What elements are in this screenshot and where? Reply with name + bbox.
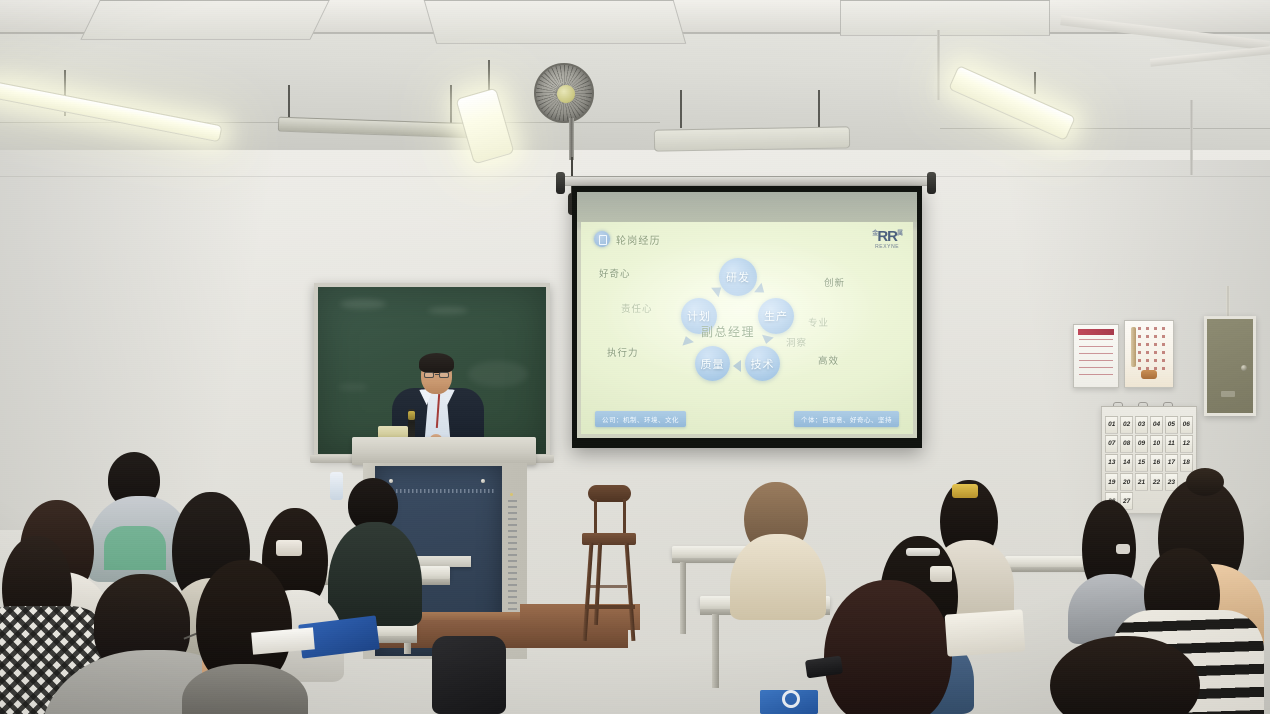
pocket-cell-13[interactable]: 13 xyxy=(1105,454,1118,472)
stool-rung-mid xyxy=(589,585,627,588)
logo-mark: RR xyxy=(877,228,897,245)
poster-scroll-graphic xyxy=(1131,327,1136,367)
pocket-cell-empty xyxy=(1135,492,1148,510)
panel-label-plate xyxy=(1221,391,1235,397)
stool-back-leg-left xyxy=(594,499,597,537)
light-rod-center-b xyxy=(450,85,452,125)
lectern-side-grille xyxy=(508,500,517,620)
wooden-bar-stool[interactable] xyxy=(578,485,638,645)
wall-seam-right xyxy=(940,128,1270,129)
word-execution: 执行力 xyxy=(607,345,639,359)
ceiling-duct-left xyxy=(80,0,330,40)
stool-back-leg-right xyxy=(623,499,626,537)
student-body xyxy=(328,522,422,626)
arrow-rnd-to-production xyxy=(754,283,768,297)
poster-text-lines xyxy=(1079,339,1113,381)
pocket-cell-12[interactable]: 12 xyxy=(1180,435,1193,453)
desk-water-bottle xyxy=(330,472,343,500)
word-curiosity: 好奇心 xyxy=(599,266,631,280)
pocket-cell-02[interactable]: 02 xyxy=(1120,416,1133,434)
hair-scrunchie xyxy=(276,540,302,556)
logo-mark-right: 属 xyxy=(897,231,902,237)
poster-column-2 xyxy=(1154,327,1157,371)
word-professional: 专业 xyxy=(808,315,829,329)
student-body xyxy=(730,534,826,620)
desk-backpack xyxy=(432,636,506,714)
pocket-cell-11[interactable]: 11 xyxy=(1165,435,1178,453)
pocket-cell-14[interactable]: 14 xyxy=(1120,454,1133,472)
stool-leg-bl xyxy=(594,543,602,625)
desk-logo-sticker xyxy=(782,690,800,708)
ceiling-duct-center xyxy=(424,0,687,44)
stool-rung-lower xyxy=(585,605,635,609)
poster-column-3 xyxy=(1146,327,1149,371)
slide-center-label: 副总经理 xyxy=(701,323,755,340)
light-rod-screen-b xyxy=(818,90,820,130)
bubble-rnd: 研发 xyxy=(719,258,757,296)
pocket-cell-16[interactable]: 16 xyxy=(1150,454,1163,472)
arrow-quality-to-planning xyxy=(680,334,694,345)
lectern-screw-right xyxy=(481,479,485,483)
bubble-technology: 技术 xyxy=(745,346,780,381)
bubble-production: 生产 xyxy=(758,298,794,334)
pocket-cell-21[interactable]: 21 xyxy=(1135,473,1148,491)
ceiling-pipe-right xyxy=(1190,100,1193,175)
pocket-cell-22[interactable]: 22 xyxy=(1150,473,1163,491)
pocket-cell-03[interactable]: 03 xyxy=(1135,416,1148,434)
classroom-scene: 轮岗经历 金RR属 REXYNE 研发 生产 技术 质量 计划 副总经理 xyxy=(0,0,1270,714)
desk-leg-row3-left xyxy=(680,562,686,634)
pocket-cell-09[interactable]: 09 xyxy=(1135,435,1148,453)
student-hood xyxy=(104,526,166,570)
tag-individual: 个体：自驱意、好奇心、坚持 xyxy=(794,411,899,427)
presentation-slide: 轮岗经历 金RR属 REXYNE 研发 生产 技术 质量 计划 副总经理 xyxy=(581,222,913,434)
pocket-cell-04[interactable]: 04 xyxy=(1150,416,1163,434)
arrow-production-to-technology xyxy=(760,335,773,345)
desk-tote-bag xyxy=(945,609,1026,656)
pocket-cell-07[interactable]: 07 xyxy=(1105,435,1118,453)
word-innovation: 创新 xyxy=(824,275,845,289)
student-hair xyxy=(824,580,952,714)
panel-conduit xyxy=(1226,286,1230,318)
pocket-cell-01[interactable]: 01 xyxy=(1105,416,1118,434)
classroom-rules-poster xyxy=(1073,324,1119,388)
hair-clip-silver xyxy=(906,548,940,556)
lectern-top xyxy=(352,437,536,465)
company-logo: 金RR属 REXYNE xyxy=(872,229,902,250)
logo-wordmark: REXYNE xyxy=(872,245,902,250)
hair-clip-gold xyxy=(952,484,978,498)
presenter-glasses-left xyxy=(424,372,434,378)
projection-screen-housing[interactable] xyxy=(560,176,932,186)
word-efficient: 高效 xyxy=(818,353,839,367)
panel-latch-knob[interactable] xyxy=(1241,365,1247,371)
pocket-cell-18[interactable]: 18 xyxy=(1180,454,1193,472)
poster-header-band xyxy=(1078,329,1114,335)
screen-surface: 轮岗经历 金RR属 REXYNE 研发 生产 技术 质量 计划 副总经理 xyxy=(577,192,917,438)
light-rod-right xyxy=(1034,72,1036,94)
arrow-technology-to-quality xyxy=(733,360,741,372)
presenter-hair xyxy=(419,353,454,373)
fan-hub xyxy=(557,85,575,103)
ceiling-light-screen[interactable] xyxy=(654,126,850,151)
student-hair xyxy=(196,560,292,680)
tag-company: 公司：机制、环境、文化 xyxy=(595,411,686,427)
light-rod-screen xyxy=(680,90,682,128)
building-icon xyxy=(594,231,610,247)
slide-header-title: 轮岗经历 xyxy=(616,232,661,247)
screen-bracket-right xyxy=(927,172,936,194)
lectern-screw-left xyxy=(389,479,393,483)
pocket-cell-05[interactable]: 05 xyxy=(1165,416,1178,434)
word-insight: 洞察 xyxy=(786,335,807,349)
presenter-glasses-right xyxy=(439,372,449,378)
hair-bun xyxy=(1186,468,1224,496)
lectern-indicator-led xyxy=(510,493,513,496)
pocket-cell-08[interactable]: 08 xyxy=(1120,435,1133,453)
poster-column-1 xyxy=(1162,327,1165,371)
pocket-cell-19[interactable]: 19 xyxy=(1105,473,1118,491)
bubble-quality: 质量 xyxy=(695,346,730,381)
pocket-cell-10[interactable]: 10 xyxy=(1150,435,1163,453)
ceiling-duct-right xyxy=(840,0,1050,36)
lectern-vent-strip xyxy=(384,489,494,493)
fan-cage-icon xyxy=(534,63,594,123)
wall-shadow-left xyxy=(0,130,330,530)
stool-leg-fl xyxy=(583,543,594,641)
desk-leg-row2-center xyxy=(712,614,719,688)
ceiling-pipe-center xyxy=(937,30,940,100)
projection-screen: 轮岗经历 金RR属 REXYNE 研发 生产 技术 质量 计划 副总经理 xyxy=(572,186,922,448)
pocket-cell-17[interactable]: 17 xyxy=(1165,454,1178,472)
pocket-cell-20[interactable]: 20 xyxy=(1120,473,1133,491)
calligraphy-poster xyxy=(1124,320,1174,388)
electrical-access-panel[interactable] xyxy=(1204,316,1256,416)
fan-pole xyxy=(569,118,574,160)
pocket-cell-15[interactable]: 15 xyxy=(1135,454,1148,472)
stool-leg-fr xyxy=(625,543,636,641)
word-responsibility: 责任心 xyxy=(621,301,653,315)
screen-bracket-left xyxy=(556,172,565,194)
screen-blank-band xyxy=(577,192,917,222)
pocket-cell-empty xyxy=(1150,492,1163,510)
poster-seal xyxy=(1141,370,1157,379)
hair-tie xyxy=(1116,544,1130,554)
presenter-glasses-bridge xyxy=(435,374,439,375)
hair-scrunchie xyxy=(930,566,952,582)
poster-column-4 xyxy=(1138,327,1141,371)
pocket-cell-06[interactable]: 06 xyxy=(1180,416,1193,434)
